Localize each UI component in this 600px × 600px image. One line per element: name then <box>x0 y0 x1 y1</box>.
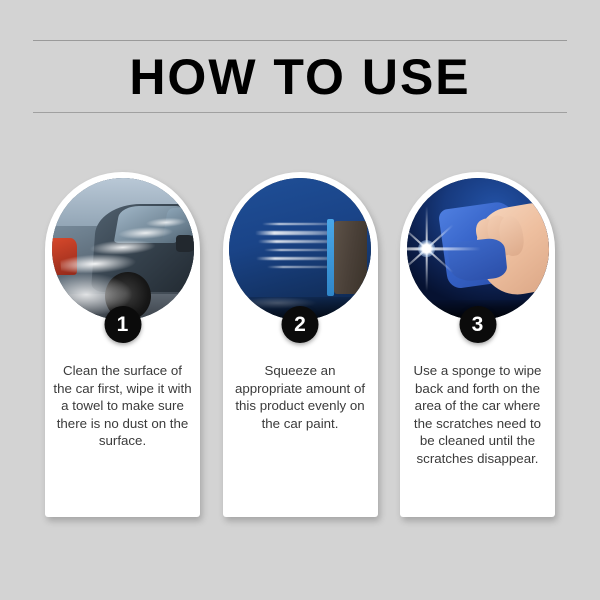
sponge-blue-edge <box>327 219 334 296</box>
polish-applied-to-blue-paint-photo <box>229 178 371 320</box>
step-badge-3: 3 <box>459 306 496 343</box>
step-description-2: Squeeze an appropriate amount of this pr… <box>223 362 378 432</box>
page-title: HOW TO USE <box>33 41 567 112</box>
sparkle-icon <box>407 221 455 278</box>
sparkle-core <box>418 240 435 257</box>
page-header: HOW TO USE <box>33 40 567 113</box>
step-card-3: 3 Use a sponge to wipe back and forth on… <box>400 172 555 517</box>
step-description-3: Use a sponge to wipe back and forth on t… <box>400 362 555 467</box>
sponge-applicator <box>334 221 367 295</box>
car-wash-illustration <box>52 178 194 320</box>
step-description-1: Clean the surface of the car first, wipe… <box>45 362 200 450</box>
step-badge-1: 1 <box>104 306 141 343</box>
steps-container: 1 Clean the surface of the car first, wi… <box>45 172 555 517</box>
step-badge-2: 2 <box>282 306 319 343</box>
hand-cloth-illustration <box>407 178 549 320</box>
water-mist <box>52 249 160 314</box>
cloth-fold <box>447 238 508 283</box>
step-card-1: 1 Clean the surface of the car first, wi… <box>45 172 200 517</box>
car-pressure-wash-photo <box>52 178 194 320</box>
step-card-2: 2 Squeeze an appropriate amount of this … <box>223 172 378 517</box>
blue-paint-illustration <box>229 178 371 320</box>
hand-wiping-with-blue-cloth-photo <box>407 178 549 320</box>
header-rule-bottom <box>33 112 567 113</box>
